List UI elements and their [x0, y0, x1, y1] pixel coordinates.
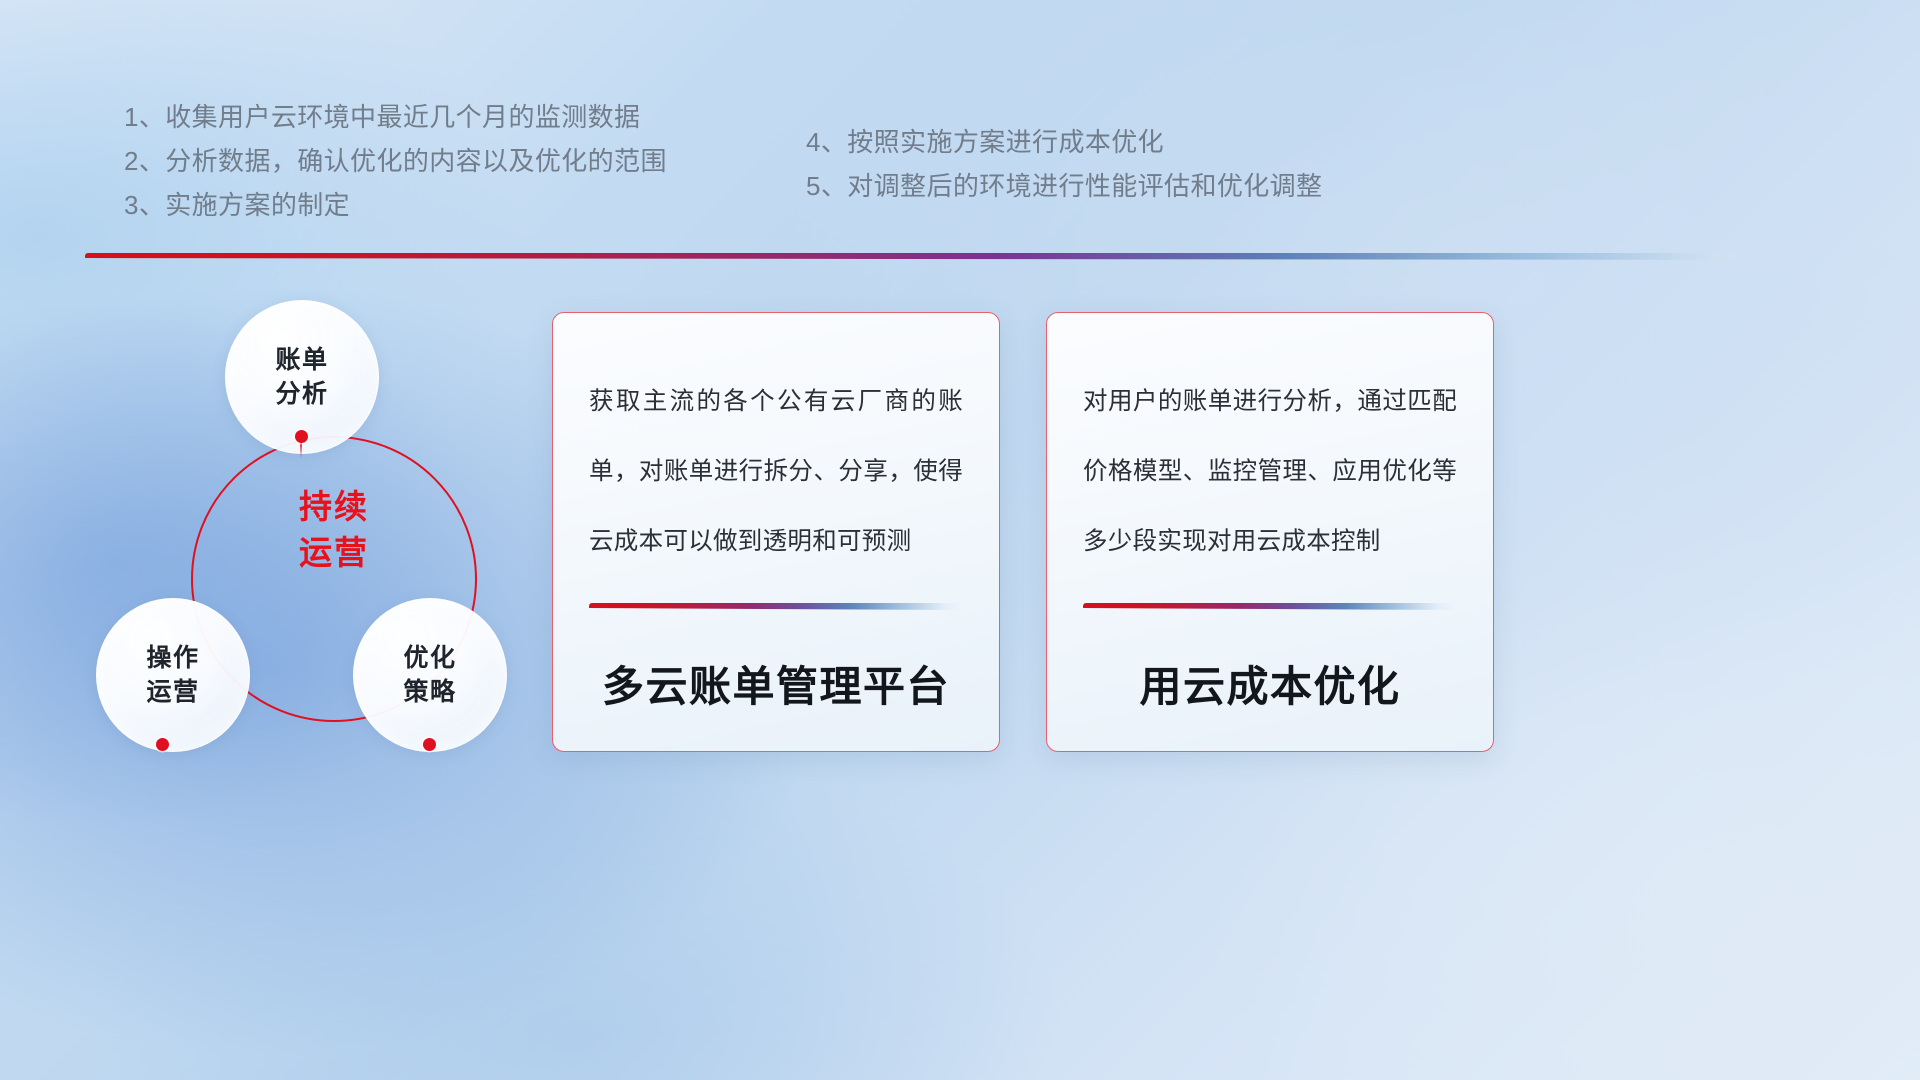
card-body-text: 对用户的账单进行分析，通过匹配价格模型、监控管理、应用优化等多少段实现对用云成本…: [1083, 367, 1457, 577]
card-divider: [1083, 603, 1457, 610]
bubble-label: 优化 策略: [403, 641, 456, 709]
card-title: 多云账单管理平台: [589, 653, 963, 714]
slide-canvas: 1、收集用户云环境中最近几个月的监测数据 2、分析数据，确认优化的内容以及优化的…: [0, 0, 1920, 1080]
process-step-5: 5、对调整后的环境进行性能评估和优化调整: [806, 164, 1322, 208]
continuous-operation-diagram: 持续 运营 账单 分析 操作 运营 优化 策略: [78, 288, 548, 768]
process-step-3: 3、实施方案的制定: [124, 183, 667, 227]
bubble-label: 操作 运营: [146, 641, 199, 709]
card-body-text: 获取主流的各个公有云厂商的账单，对账单进行拆分、分享，使得云成本可以做到透明和可…: [589, 367, 963, 577]
card-divider: [589, 603, 963, 610]
diagram-node-stem-top: [300, 442, 302, 458]
card-title: 用云成本优化: [1083, 653, 1457, 714]
diagram-center-label: 持续 运营: [191, 484, 477, 576]
diagram-bubble-operations[interactable]: 操作 运营: [96, 598, 250, 752]
diagram-bubble-optimization-strategy[interactable]: 优化 策略: [353, 598, 507, 752]
process-step-2: 2、分析数据，确认优化的内容以及优化的范围: [124, 139, 667, 183]
section-divider-bar: [85, 253, 1837, 260]
process-step-4: 4、按照实施方案进行成本优化: [806, 120, 1322, 164]
process-step-1: 1、收集用户云环境中最近几个月的监测数据: [124, 95, 667, 139]
process-steps-left: 1、收集用户云环境中最近几个月的监测数据 2、分析数据，确认优化的内容以及优化的…: [124, 95, 667, 227]
bubble-label: 账单 分析: [275, 343, 328, 411]
diagram-node-dot-right: [423, 738, 436, 751]
card-multicloud-billing[interactable]: 获取主流的各个公有云厂商的账单，对账单进行拆分、分享，使得云成本可以做到透明和可…: [552, 312, 1000, 752]
section-divider: [85, 253, 1837, 260]
diagram-node-dot-top: [295, 430, 308, 443]
diagram-node-dot-left: [156, 738, 169, 751]
card-cloud-cost-optimization[interactable]: 对用户的账单进行分析，通过匹配价格模型、监控管理、应用优化等多少段实现对用云成本…: [1046, 312, 1494, 752]
process-steps-right: 4、按照实施方案进行成本优化 5、对调整后的环境进行性能评估和优化调整: [806, 120, 1322, 208]
